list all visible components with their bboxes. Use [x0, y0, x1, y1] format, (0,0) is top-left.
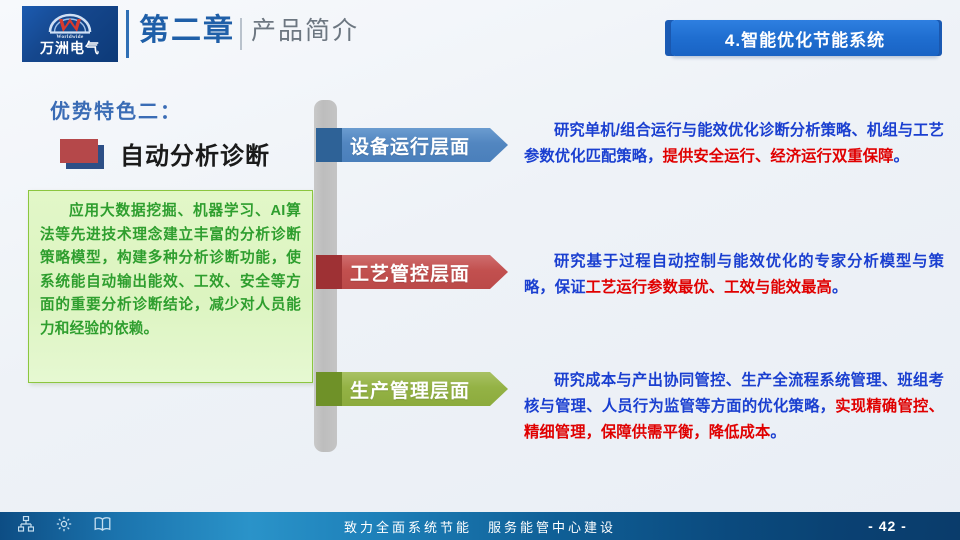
- banner-label: 生产管理层面: [350, 376, 470, 403]
- description-callout: 应用大数据挖掘、机器学习、AI算法等先进技术理念建立丰富的分析诊断策略模型，构建…: [28, 190, 313, 383]
- desc-tail-text: 。: [832, 279, 847, 296]
- banner-cap: [316, 372, 344, 406]
- header-accent-bar: [126, 10, 129, 58]
- banner-body: 工艺管控层面: [342, 255, 508, 289]
- layer-banner-process[interactable]: 工艺管控层面: [316, 255, 508, 289]
- banner-cap: [316, 128, 344, 162]
- layer-description-equipment: 研究单机/组合运行与能效优化诊断分析策略、机组与工艺参数优化匹配策略，提供安全运…: [524, 118, 944, 170]
- desc-tail-text: 。: [894, 148, 909, 165]
- w-crown-logo-icon: [47, 13, 93, 35]
- banner-cap: [316, 255, 344, 289]
- slide-header: Worldwide 万洲电气 第二章 产品简介 4.智能优化节能系统: [0, 0, 960, 72]
- page-title: 产品简介: [251, 19, 359, 44]
- company-logo: Worldwide 万洲电气: [22, 6, 118, 62]
- desc-highlight-text: 工艺运行参数最优、工效与能效最高: [586, 279, 832, 296]
- desc-tail-text: 。: [770, 424, 785, 441]
- slide-canvas: Worldwide 万洲电气 第二章 产品简介 4.智能优化节能系统 优势特色二…: [0, 0, 960, 540]
- logo-company-name: 万洲电气: [40, 42, 100, 56]
- description-text: 应用大数据挖掘、机器学习、AI算法等先进技术理念建立丰富的分析诊断策略模型，构建…: [40, 200, 301, 341]
- desc-highlight-text: 提供安全运行、经济运行双重保障: [663, 148, 894, 165]
- header-separator: [240, 18, 242, 50]
- feature-bullet: 自动分析诊断: [60, 136, 270, 171]
- layer-banner-equipment[interactable]: 设备运行层面: [316, 128, 508, 162]
- banner-label: 工艺管控层面: [350, 259, 470, 286]
- feature-heading: 优势特色二：: [50, 95, 182, 124]
- feature-bullet-label: 自动分析诊断: [120, 136, 270, 171]
- section-badge: 4.智能优化节能系统: [671, 20, 939, 56]
- square-bullet-icon: [60, 139, 104, 169]
- banner-label: 设备运行层面: [350, 132, 470, 159]
- logo-subtext: Worldwide: [56, 35, 83, 40]
- chapter-title: 第二章: [139, 16, 235, 46]
- page-number: - 42 -: [815, 512, 960, 540]
- layer-description-production: 研究成本与产出协同管控、生产全流程系统管理、班组考核与管理、人员行为监管等方面的…: [524, 368, 944, 446]
- layer-description-process: 研究基于过程自动控制与能效优化的专家分析模型与策略，保证工艺运行参数最优、工效与…: [524, 249, 944, 301]
- section-badge-label: 4.智能优化节能系统: [725, 26, 885, 51]
- layer-banner-production[interactable]: 生产管理层面: [316, 372, 508, 406]
- banner-body: 设备运行层面: [342, 128, 508, 162]
- banner-body: 生产管理层面: [342, 372, 508, 406]
